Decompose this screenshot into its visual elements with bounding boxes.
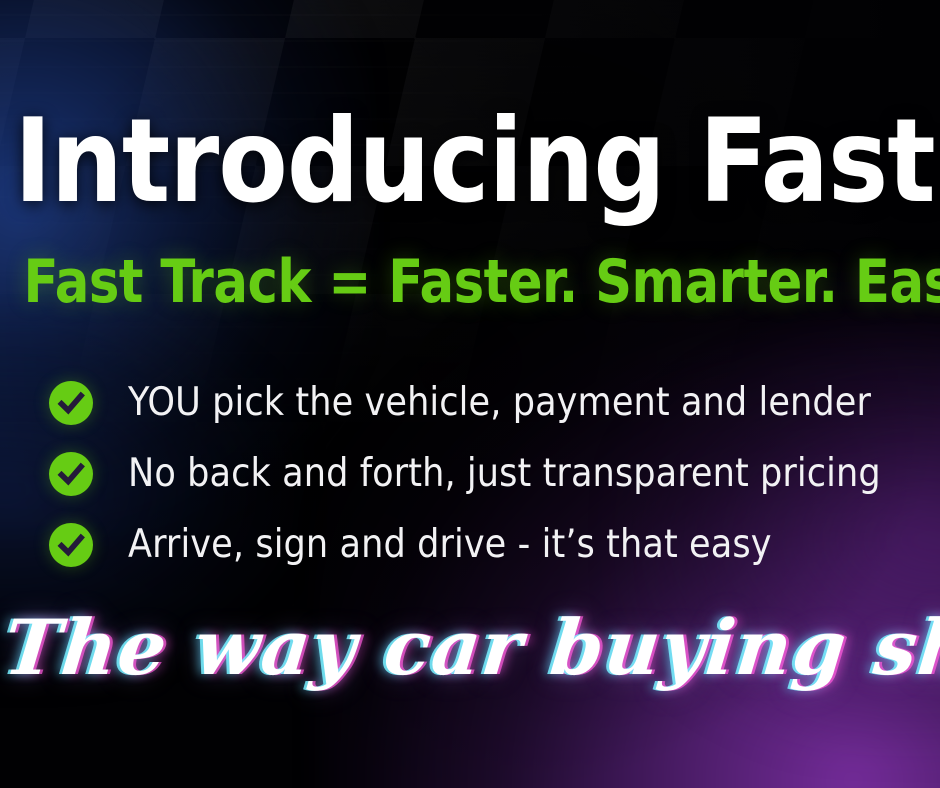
list-item-label: Arrive, sign and drive - it’s that easy <box>128 523 772 567</box>
list-item: Arrive, sign and drive - it’s that easy <box>49 523 909 567</box>
list-item: YOU pick the vehicle, payment and lender <box>49 381 909 425</box>
check-circle-icon <box>49 523 93 567</box>
benefits-list: YOU pick the vehicle, payment and lender… <box>49 381 909 594</box>
content-layer: Introducing Fast Track Fast Track = Fast… <box>0 0 940 788</box>
list-item-label: YOU pick the vehicle, payment and lender <box>128 381 871 425</box>
script-tagline: The way car buying should be. <box>0 600 940 695</box>
list-item-label: No back and forth, just transparent pric… <box>128 452 881 496</box>
promo-graphic: Introducing Fast Track Fast Track = Fast… <box>0 0 940 788</box>
list-item: No back and forth, just transparent pric… <box>49 452 909 496</box>
headline: Introducing Fast Track <box>14 104 926 220</box>
subheadline: Fast Track = Faster. Smarter. Easier. <box>24 252 917 312</box>
check-circle-icon <box>49 381 93 425</box>
check-circle-icon <box>49 452 93 496</box>
